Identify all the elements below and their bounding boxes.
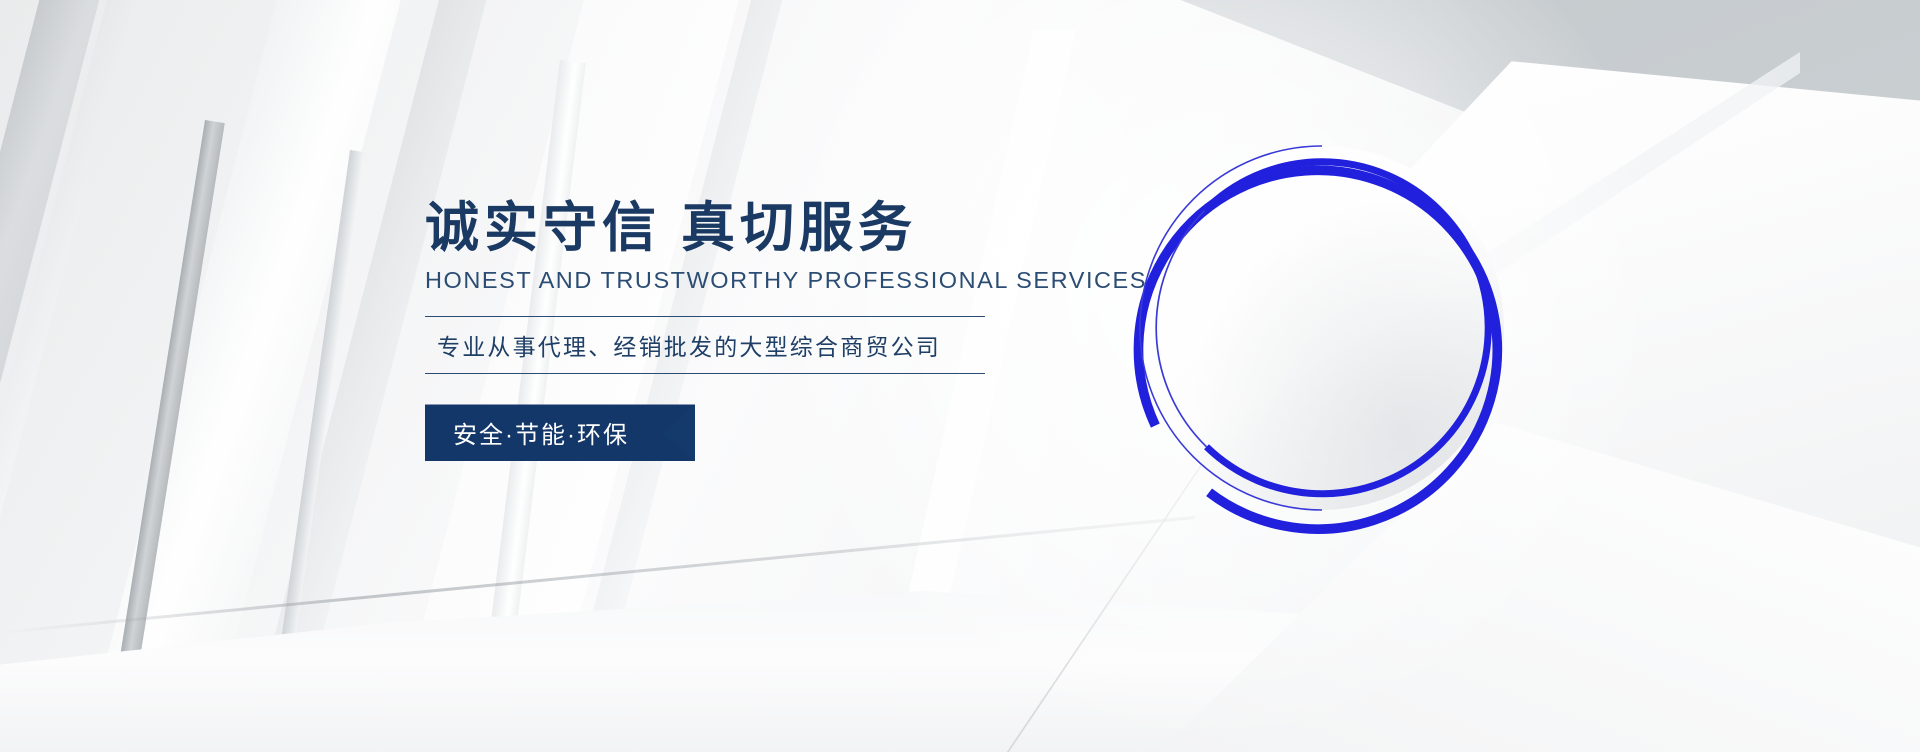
subheadline-english: HONEST AND TRUSTWORTHY PROFESSIONAL SERV… bbox=[425, 267, 1065, 294]
product-circle: / \ / \ — \ bbox=[1122, 128, 1522, 528]
ring-thick-arc bbox=[1205, 162, 1489, 494]
feature-ribbon-label: 安全·节能·环保 bbox=[425, 415, 629, 450]
feature-ribbon: 安全·节能·环保 bbox=[425, 404, 695, 461]
description-block: 专业从事代理、经销批发的大型综合商贸公司 bbox=[425, 316, 985, 374]
headline: 诚实守信 真切服务 bbox=[425, 198, 1065, 258]
description-chinese: 专业从事代理、经销批发的大型综合商贸公司 bbox=[425, 317, 985, 373]
divider-bottom bbox=[425, 373, 985, 374]
ring-overlay bbox=[1122, 128, 1522, 528]
ring-thin-arc bbox=[1156, 211, 1206, 447]
hero-text-block: 诚实守信 真切服务 HONEST AND TRUSTWORTHY PROFESS… bbox=[425, 198, 1065, 461]
hero-banner: 诚实守信 真切服务 HONEST AND TRUSTWORTHY PROFESS… bbox=[0, 0, 1920, 752]
